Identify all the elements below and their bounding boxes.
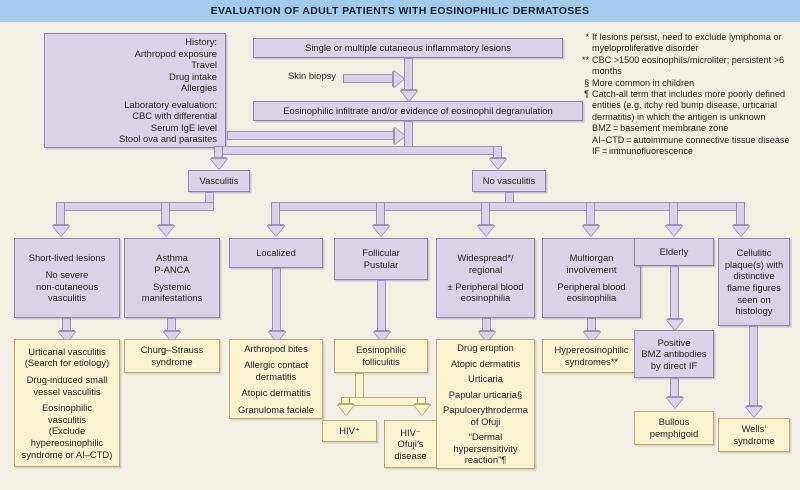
criteria-line: Elderly <box>660 246 689 258</box>
diagnosis-line: syndrome <box>151 356 192 368</box>
diagnosis-line: Drug eruption <box>457 342 514 354</box>
diagnosis-line: Eosinophilic <box>42 402 92 414</box>
arrow-vasc-drop-1 <box>158 226 174 236</box>
connector-nov-drop-0 <box>271 202 280 227</box>
intermediate-line: Positive <box>658 337 691 349</box>
diagnosis-line: reaction”¶ <box>465 454 507 466</box>
arrow-nov-drop-3 <box>583 226 599 236</box>
page-title: EVALUATION OF ADULT PATIENTS WITH EOSINO… <box>211 5 590 17</box>
diagnosis-line: hypersensitivity <box>453 443 517 455</box>
diagnoses-localized: Arthropod bites Allergic contact dermati… <box>229 339 323 419</box>
branch-node-no-vasculitis: No vasculitis <box>472 170 546 192</box>
diagnosis-line: pemphigoid <box>650 428 698 440</box>
diagnosis-line: (Exclude <box>49 425 85 437</box>
arrow-vasc-drop-0 <box>53 226 69 236</box>
arrow-hiv-negative <box>414 405 430 415</box>
history-item-1: Travel <box>191 59 217 71</box>
criteria-line: Systemic <box>153 281 191 293</box>
criteria-line: vasculitis <box>48 292 86 304</box>
criteria-line: manifestations <box>142 292 202 304</box>
connector-start-to-finding <box>404 58 413 93</box>
criteria-line: non-cutaneous <box>36 281 98 293</box>
criteria-line: involvement <box>566 264 616 276</box>
connector-nov-drop-4 <box>669 202 678 227</box>
criteria-line: Peripheral blood <box>557 281 625 293</box>
history-item-0: Arthropod exposure <box>135 48 217 60</box>
arrow-nov-drop-5 <box>733 226 749 236</box>
abbreviations-list: BMZ = basement membrane zone AI–CTD = au… <box>576 123 800 157</box>
footnote-row: ** CBC >1500 eosinophils/microliter; per… <box>576 55 800 78</box>
workup-panel: History: Arthropod exposure Travel Drug … <box>44 33 226 148</box>
criteria-line: eosinophilia <box>567 292 617 304</box>
arrow-bmz-to-dx <box>667 398 683 408</box>
finding-node: Eosinophilic infiltrate and/or evidence … <box>253 101 583 121</box>
connector-to-no-vasculitis <box>493 146 502 160</box>
criteria-short-lived: Short-lived lesions No severe non-cutane… <box>14 238 120 318</box>
lab-item-0: CBC with differential <box>132 110 217 122</box>
arrow-to-no-vasculitis <box>490 159 506 169</box>
arrow-cellulitic-to-dx <box>746 407 762 417</box>
diagnosis-line: Papular urticaria§ <box>449 389 522 401</box>
diagnosis-line: hypereosinophilic <box>31 437 103 449</box>
footnote-marker: § <box>576 78 592 89</box>
diagnosis-line: (Search for etiology) <box>25 357 109 369</box>
intermediate-positive-bmz: Positive BMZ antibodies by direct IF <box>634 330 714 378</box>
diagnosis-line: HIV⁺ <box>339 425 360 437</box>
diagnosis-line: Atopic dermatitis <box>241 387 310 399</box>
criteria-line: plaque(s) with <box>725 259 783 271</box>
criteria-follicular-pustular: Follicular Pustular <box>334 238 428 280</box>
arrow-nov-drop-1 <box>373 226 389 236</box>
diagnosis-line: syndrome <box>733 435 774 447</box>
arrow-to-vasculitis <box>211 159 227 169</box>
diagnosis-line: syndrome or AI–CTD) <box>22 449 113 461</box>
footnote-row: * If lesions persist, need to exclude ly… <box>576 32 800 55</box>
diagnosis-line: Urticaria <box>468 373 503 385</box>
branch-vasculitis-label: Vasculitis <box>200 175 239 187</box>
criteria-line: Multiorgan <box>570 252 614 264</box>
diagnosis-line: of Ofuji <box>471 416 501 428</box>
connector-bmz-to-dx <box>670 378 679 400</box>
branch-node-vasculitis: Vasculitis <box>188 170 250 192</box>
finding-node-label: Eosinophilic infiltrate and/or evidence … <box>283 105 552 117</box>
footnote-text: More common in children <box>592 78 800 89</box>
connector-follicular-to-dx <box>377 280 386 334</box>
connector-localized-to-dx <box>272 268 281 334</box>
diagnoses-hypereosinophilic-syndromes: Hypereosinophilic syndromes** <box>542 339 641 373</box>
diagnosis-line: Bullous <box>659 416 690 428</box>
branch-no-vasculitis-label: No vasculitis <box>483 175 536 187</box>
diagnosis-line: Wells’ <box>742 423 767 435</box>
connector-nov-drop-5 <box>736 202 745 227</box>
start-node: Single or multiple cutaneous inflammator… <box>253 38 563 58</box>
criteria-line: Cellulitic <box>737 247 772 259</box>
criteria-line: No severe <box>46 269 89 281</box>
connector-vasc-drop-1 <box>161 202 170 227</box>
arrow-biopsy <box>394 71 404 87</box>
diagnosis-line: vessel vasculitis <box>33 386 100 398</box>
lab-heading: Laboratory evaluation: <box>124 99 217 111</box>
footnote-marker: * <box>576 32 592 55</box>
start-node-label: Single or multiple cutaneous inflammator… <box>305 42 511 54</box>
criteria-line: flame figures <box>727 282 781 294</box>
diagram-title-bar: EVALUATION OF ADULT PATIENTS WITH EOSINO… <box>0 0 800 22</box>
diagnosis-line: syndromes** <box>565 356 618 368</box>
diagnosis-line: Hypereosinophilic <box>555 344 629 356</box>
connector-workup-to-finding <box>227 131 397 140</box>
footnotes-legend: * If lesions persist, need to exclude ly… <box>576 32 800 157</box>
diagnosis-line: “Dermal <box>469 431 502 443</box>
diagram-canvas: EVALUATION OF ADULT PATIENTS WITH EOSINO… <box>0 0 800 490</box>
connector-to-vasculitis <box>214 146 223 160</box>
diagnosis-line: folliculitis <box>362 356 400 368</box>
diagnosis-line: Urticarial vasculitis <box>28 346 106 358</box>
diagnosis-line: vasculitis <box>48 414 86 426</box>
diagnosis-line: HIV⁻ <box>400 427 421 439</box>
history-item-2: Drug intake <box>169 71 217 83</box>
arrow-nov-drop-0 <box>268 226 284 236</box>
abbreviation-item: BMZ = basement membrane zone <box>592 123 800 134</box>
criteria-line: histology <box>735 305 772 317</box>
criteria-multiorgan: Multiorgan involvement Peripheral blood … <box>542 238 641 318</box>
diagnoses-hiv-positive: HIV⁺ <box>322 420 377 442</box>
footnote-row: § More common in children <box>576 78 800 89</box>
diagnosis-line: Ofuji’s <box>398 438 424 450</box>
diagnosis-line: Granuloma faciale <box>238 404 314 416</box>
criteria-line: seen on <box>737 294 770 306</box>
diagnoses-widespread-regional: Drug eruption Atopic dermatitis Urticari… <box>436 339 535 469</box>
abbreviation-item: IF = immunofluorescence <box>592 146 800 157</box>
connector-cellulitic-to-dx <box>749 326 758 409</box>
criteria-cellulitic-plaques: Cellulitic plaque(s) with distinctive fl… <box>718 238 790 326</box>
arrow-elderly-to-intermediate <box>667 320 683 330</box>
criteria-line: Asthma <box>156 252 188 264</box>
connector-vasculitis-bus <box>56 202 214 211</box>
connector-nov-drop-1 <box>376 202 385 227</box>
intermediate-line: by direct IF <box>651 360 697 372</box>
diagnosis-line: Allergic contact <box>244 359 308 371</box>
diagnoses-bullous-pemphigoid: Bullous pemphigoid <box>634 411 714 445</box>
diagnoses-wells-syndrome: Wells’ syndrome <box>718 418 790 452</box>
diagnosis-line: disease <box>394 450 426 462</box>
criteria-line: Short-lived lesions <box>29 252 106 264</box>
criteria-asthma: Asthma P-ANCA Systemic manifestations <box>124 238 220 318</box>
criteria-line: regional <box>469 264 502 276</box>
diagnosis-line: dermatitis <box>256 371 297 383</box>
criteria-line: Pustular <box>364 259 398 271</box>
criteria-elderly: Elderly <box>634 238 714 266</box>
abbreviation-item: AI–CTD = autoimmune connective tissue di… <box>592 135 800 146</box>
connector-elderly-to-intermediate <box>670 266 679 322</box>
diagnosis-line: Papuloerythroderma <box>443 404 528 416</box>
footnote-text: Catch-all term that includes more poorly… <box>592 89 800 123</box>
lab-item-2: Stool ova and parasites <box>119 133 217 145</box>
criteria-line: ± Peripheral blood <box>447 281 523 293</box>
diagnosis-line: Arthropod bites <box>244 343 308 355</box>
diagnoses-hiv-negative-ofuji: HIV⁻ Ofuji’s disease <box>384 420 437 468</box>
lab-item-1: Serum IgE level <box>151 122 217 134</box>
diagnoses-eosinophilic-folliculitis: Eosinophilic folliculitis <box>334 339 428 373</box>
connector-finding-split <box>214 146 502 155</box>
diagnosis-line: Churg–Strauss <box>141 344 204 356</box>
criteria-line: eosinophilia <box>461 292 511 304</box>
criteria-line: distinctive <box>733 270 774 282</box>
arrow-hiv-positive <box>338 405 354 415</box>
diagnoses-churg-strauss: Churg–Strauss syndrome <box>124 339 220 373</box>
footnote-text: CBC >1500 eosinophils/microliter; persis… <box>592 55 800 78</box>
history-item-3: Allergies <box>181 82 217 94</box>
connector-nov-drop-2 <box>481 202 490 227</box>
arrow-nov-drop-4 <box>666 226 682 236</box>
criteria-localized: Localized <box>229 238 323 268</box>
footnote-text: If lesions persist, need to exclude lymp… <box>592 32 800 55</box>
connector-vasc-drop-0 <box>56 202 65 227</box>
skin-biopsy-label: Skin biopsy <box>288 70 336 81</box>
criteria-line: Follicular <box>362 247 400 259</box>
arrow-start-to-finding <box>401 91 417 101</box>
intermediate-line: BMZ antibodies <box>641 348 706 360</box>
diagnosis-line: Atopic dermatitis <box>451 358 520 370</box>
footnote-row: ¶ Catch-all term that includes more poor… <box>576 89 800 123</box>
arrow-nov-drop-2 <box>478 226 494 236</box>
footnote-marker: ** <box>576 55 592 78</box>
footnote-marker: ¶ <box>576 89 592 123</box>
diagnosis-line: Eosinophilic <box>356 344 406 356</box>
history-heading: History: <box>185 36 217 48</box>
criteria-line: Widespread*/ <box>457 252 513 264</box>
connector-biopsy <box>343 74 396 83</box>
diagnoses-urticarial-vasculitis: Urticarial vasculitis (Search for etiolo… <box>14 339 120 467</box>
criteria-widespread-regional: Widespread*/ regional ± Peripheral blood… <box>436 238 535 318</box>
criteria-line: Localized <box>256 247 296 259</box>
connector-nov-drop-3 <box>586 202 595 227</box>
diagnosis-line: Drug-induced small <box>27 374 108 386</box>
criteria-line: P-ANCA <box>154 264 189 276</box>
